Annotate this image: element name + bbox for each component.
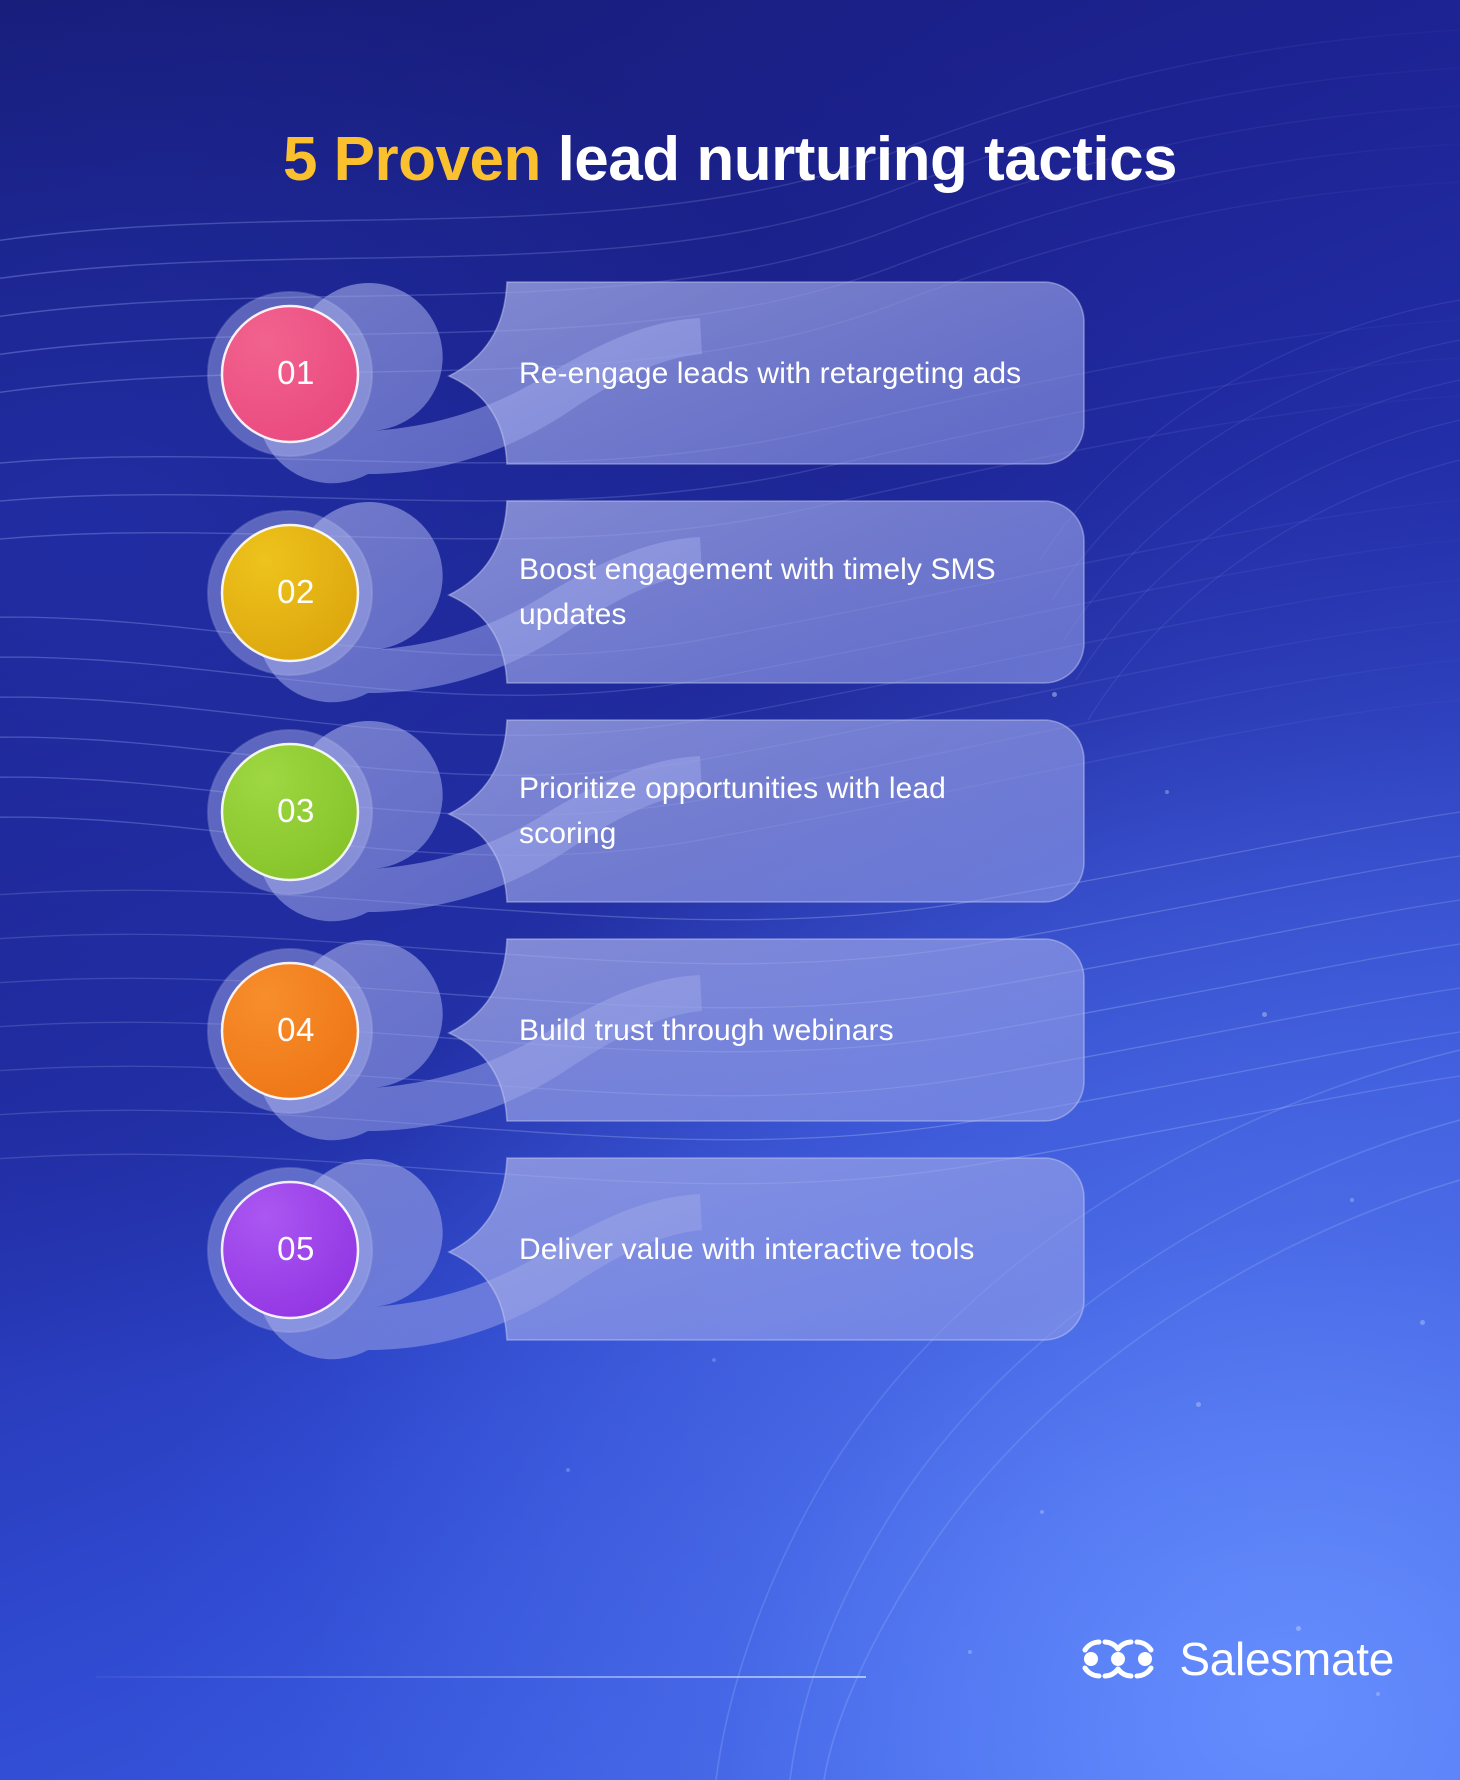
sparkle-dot (1040, 1510, 1044, 1514)
tactic-number-badge: 05 (228, 1181, 364, 1317)
tactic-item[interactable]: 03 Prioritize opportunities with lead sc… (214, 720, 1084, 902)
tactic-item[interactable]: 05 Deliver value with interactive tools (214, 1158, 1084, 1340)
tactic-number-badge: 04 (228, 962, 364, 1098)
page-title-accent: 5 Proven (283, 125, 541, 194)
tactic-text: Boost engagement with timely SMS updates (519, 501, 1039, 683)
brand-lockup[interactable]: Salesmate (1079, 1632, 1394, 1686)
tactic-number-badge: 01 (228, 305, 364, 441)
tactic-number: 01 (277, 354, 315, 392)
tactic-number-badge: 02 (228, 524, 364, 660)
salesmate-logo-icon (1079, 1636, 1157, 1682)
tactic-item[interactable]: 02 Boost engagement with timely SMS upda… (214, 501, 1084, 683)
page-title-rest: lead nurturing tactics (541, 125, 1177, 194)
tactic-number: 05 (277, 1230, 315, 1268)
sparkle-dot (1196, 1402, 1201, 1407)
tactic-item[interactable]: 01 Re-engage leads with retargeting ads (214, 282, 1084, 464)
tactic-text: Build trust through webinars (519, 939, 1039, 1121)
brand-name: Salesmate (1179, 1632, 1394, 1686)
footer: Salesmate (0, 1570, 1460, 1780)
infographic-poster: 5 Proven lead nurturing tactics (0, 0, 1460, 1780)
footer-divider (96, 1676, 866, 1678)
tactic-number: 03 (277, 792, 315, 830)
tactic-text: Prioritize opportunities with lead scori… (519, 720, 1039, 902)
tactic-text: Deliver value with interactive tools (519, 1158, 1039, 1340)
tactic-text: Re-engage leads with retargeting ads (519, 282, 1039, 464)
tactic-number: 04 (277, 1011, 315, 1049)
page-title: 5 Proven lead nurturing tactics (0, 126, 1460, 194)
tactic-number-badge: 03 (228, 743, 364, 879)
tactic-number: 02 (277, 573, 315, 611)
tactics-list: 01 Re-engage leads with retargeting ads (0, 282, 1460, 1352)
tactic-item[interactable]: 04 Build trust through webinars (214, 939, 1084, 1121)
sparkle-dot (566, 1468, 570, 1472)
